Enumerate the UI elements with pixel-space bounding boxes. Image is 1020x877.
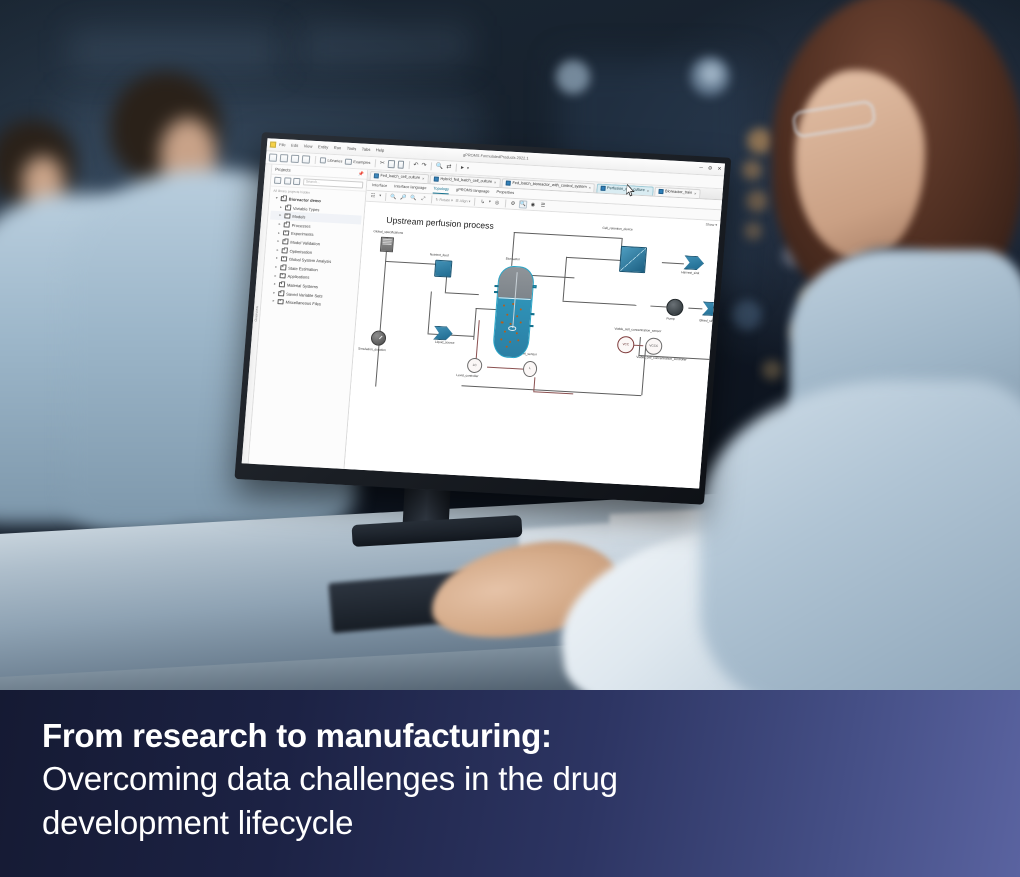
tab-label: Fed_batch_cell_culture — [380, 174, 420, 181]
chevron-right-icon[interactable]: ▸ — [280, 205, 283, 210]
connection-line — [563, 301, 637, 306]
maximize-button[interactable]: ⚙ — [708, 165, 713, 171]
vessel-port — [494, 285, 498, 287]
block-label-nutrient-feed: Nutrient_feed — [430, 253, 449, 258]
examples-button[interactable]: Examples — [345, 158, 371, 166]
vessel-port — [532, 285, 536, 288]
cell-particle — [520, 308, 522, 310]
zoom-in-icon[interactable]: 🔍 — [389, 193, 397, 201]
cell-particle — [505, 346, 507, 348]
block-nutrient-feed[interactable] — [434, 260, 452, 278]
app-body: Overview Projects 📌 — [242, 164, 723, 488]
globe-icon[interactable]: ◉ — [529, 201, 537, 209]
banner-subhead-line2: development lifecycle — [42, 803, 1020, 843]
find-replace-icon[interactable]: ⇄ — [446, 164, 452, 170]
mouse-cursor-icon — [626, 184, 636, 197]
connection-line — [530, 275, 574, 278]
connection-line — [514, 232, 622, 238]
block-label-liquid-source: Liquid_source — [435, 341, 455, 346]
tree-item-label: Variable Types — [293, 205, 320, 211]
block-bleed-sink[interactable] — [702, 301, 721, 316]
close-button[interactable]: ✕ — [717, 166, 722, 172]
topology-canvas[interactable]: Show ▾ Upstream perfusion process — [345, 202, 721, 489]
folder-icon — [285, 205, 291, 210]
connection-line — [638, 337, 640, 355]
block-viable-cell-concentration-controller[interactable]: VCCC — [645, 337, 663, 355]
wall-panel — [70, 30, 280, 72]
folder-icon — [279, 282, 285, 287]
toolbar-divider — [431, 162, 432, 170]
toolbar-divider — [408, 161, 409, 169]
align-icon: ☰ — [455, 198, 459, 203]
menu-item-file[interactable]: File — [279, 142, 286, 147]
folder-icon — [280, 265, 286, 270]
cell-particle — [519, 321, 521, 323]
cell-particle — [509, 341, 511, 343]
connection-line — [566, 257, 622, 261]
new-project-icon[interactable] — [274, 177, 282, 184]
menu-bar[interactable]: File Edit View Entity Run Tools Tabs Hel… — [279, 142, 385, 153]
toolbar-divider — [474, 198, 475, 206]
window-controls[interactable]: ─ ⚙ ✕ — [699, 165, 722, 172]
connection-line — [641, 345, 646, 395]
search-icon[interactable]: 🔍 — [436, 164, 444, 170]
model-icon — [434, 177, 439, 182]
search-input[interactable]: Search... — [302, 178, 363, 188]
chevron-right-icon[interactable]: ▸ — [279, 222, 282, 227]
tree-item-label: Models — [292, 214, 305, 220]
cell-particle — [503, 304, 505, 306]
tree-item-label: Saved Variable Sets — [286, 291, 323, 298]
vessel-port — [494, 291, 498, 293]
connection-line — [375, 237, 387, 387]
paste-icon[interactable] — [397, 161, 404, 169]
folder-icon — [279, 274, 285, 279]
show-menu-label: Show — [705, 222, 714, 226]
copy-icon[interactable] — [388, 160, 395, 168]
chevron-down-icon[interactable]: ▾ — [276, 196, 279, 201]
port-icon[interactable]: ◎ — [493, 199, 501, 207]
connect-dropdown-icon[interactable]: ▾ — [489, 201, 491, 205]
toolbar-divider — [456, 164, 457, 172]
chevron-right-icon[interactable]: ▸ — [274, 274, 277, 279]
connection-line — [650, 306, 666, 307]
signal-line — [476, 320, 480, 360]
banner-headline: From research to manufacturing: — [42, 718, 1020, 755]
block-viable-cell-concentration-sensor[interactable]: VCC — [617, 336, 635, 354]
block-harvest-sink[interactable] — [683, 255, 704, 270]
libraries-icon — [319, 157, 326, 164]
block-label-global-specifications: Global_specifications — [373, 230, 403, 236]
note-icon[interactable]: ☰ — [539, 202, 547, 210]
examples-label: Examples — [353, 160, 370, 166]
cell-particle — [516, 315, 518, 317]
menu-item-entity[interactable]: Entity — [318, 145, 329, 151]
connect-icon[interactable]: ↳ — [479, 198, 487, 206]
folder-icon — [284, 222, 290, 227]
block-level-sensor[interactable]: L — [522, 361, 537, 378]
block-level-controller[interactable]: LC — [467, 358, 483, 374]
bokeh-light — [746, 190, 768, 212]
link-icon[interactable] — [283, 177, 291, 184]
toolbar-divider — [385, 193, 386, 201]
vcc-sensor-tag: VCC — [622, 343, 629, 347]
connection-line — [688, 308, 702, 309]
folder-icon — [281, 196, 287, 201]
level-controller-tag: LC — [473, 363, 477, 367]
close-icon[interactable]: × — [694, 191, 697, 196]
desktop-monitor: File Edit View Entity Run Tools Tabs Hel… — [234, 132, 731, 505]
model-icon — [506, 181, 511, 186]
block-label-bioreactor: Bioreactor — [505, 258, 520, 263]
chevron-right-icon[interactable]: ▸ — [277, 239, 280, 244]
block-global-specifications[interactable] — [380, 237, 394, 253]
save-icon[interactable] — [291, 155, 300, 163]
chevron-right-icon[interactable]: ▸ — [277, 248, 280, 253]
chevron-right-icon[interactable]: ▸ — [273, 291, 276, 296]
vessel-port — [530, 313, 534, 315]
folder-icon — [281, 248, 287, 253]
signal-line — [487, 367, 523, 370]
bokeh-light — [732, 300, 762, 330]
menu-item-run[interactable]: Run — [333, 145, 341, 151]
select-mode-icon[interactable]: ☷ — [369, 192, 377, 200]
select-mode-dropdown-icon[interactable]: ▾ — [379, 195, 381, 199]
cell-particle — [506, 313, 508, 315]
model-icon — [374, 174, 379, 179]
close-icon[interactable]: × — [422, 176, 425, 181]
subtab-topology[interactable]: Topology — [433, 186, 449, 194]
menu-item-view[interactable]: View — [303, 144, 312, 150]
libraries-button[interactable]: Libraries — [319, 157, 342, 165]
tree-item-label: Miscellaneous Files — [285, 300, 321, 307]
cut-icon[interactable]: ✂ — [380, 161, 386, 167]
block-label-bleed-sink: Bleed_sink — [699, 319, 715, 324]
editor-area: Fed_batch_cell_culture × Hybrid_fed_batc… — [345, 170, 723, 489]
connection-line — [563, 257, 567, 301]
project-tree[interactable]: ▾ Bioreactor demo ▸ Variable Types — [261, 194, 365, 311]
show-menu[interactable]: Show ▾ — [705, 222, 717, 227]
bokeh-light — [762, 360, 782, 380]
tree-item-label: Processes — [292, 223, 311, 229]
block-cell-retention-device[interactable] — [619, 246, 647, 273]
tab-label: Hybrid_fed_batch_cell_culture — [440, 177, 492, 185]
folder-icon — [283, 231, 289, 236]
flowsheet-title: Upstream perfusion process — [386, 215, 494, 232]
examples-icon — [345, 158, 352, 165]
collapse-all-icon[interactable] — [293, 178, 301, 185]
run-dropdown-icon[interactable]: ▾ — [467, 166, 469, 170]
impeller-icon — [508, 326, 517, 331]
connection-line — [445, 292, 479, 294]
undo-icon[interactable]: ↶ — [413, 162, 419, 168]
cell-particle — [516, 332, 518, 334]
chevron-down-icon[interactable]: ▾ — [715, 223, 717, 227]
chevron-right-icon[interactable]: ▸ — [278, 231, 281, 236]
minimize-button[interactable]: ─ — [699, 165, 703, 171]
model-icon — [658, 189, 663, 194]
wall-panel — [300, 26, 470, 66]
block-label-viable-cell-concentration-sensor: Viable_cell_concentration_sensor — [614, 328, 661, 335]
tree-item-label: Applications — [287, 274, 309, 280]
cell-particle — [500, 338, 502, 340]
toolbar-divider — [431, 195, 432, 203]
run-icon[interactable]: ▸ — [461, 165, 464, 171]
rotate-button[interactable]: ↻ Rotate ▾ — [435, 197, 453, 202]
projects-title: Projects — [275, 167, 291, 173]
block-label-simulation-duration: Simulation_duration — [358, 348, 386, 353]
chevron-down-icon[interactable]: ▾ — [451, 198, 453, 203]
agitator-shaft — [512, 273, 517, 329]
cell-particle — [501, 321, 503, 323]
rotate-icon: ↻ — [435, 197, 438, 202]
zoom-out-icon[interactable]: 🔎 — [399, 194, 407, 202]
tree-item-label: Model Validation — [290, 240, 320, 247]
vccc-controller-tag: VCCC — [649, 344, 658, 348]
close-icon[interactable]: × — [647, 189, 650, 194]
tree-item-label: Experiments — [291, 231, 314, 237]
cell-particle — [504, 330, 506, 332]
tree-item-label: Material Systems — [287, 283, 318, 290]
block-simulation-duration[interactable] — [370, 330, 386, 346]
settings-icon[interactable]: ⚙ — [509, 200, 517, 208]
tree-item-label: Bioreactor demo — [289, 197, 322, 204]
chevron-right-icon[interactable]: ▸ — [272, 299, 275, 304]
tree-item-label: State Estimation — [288, 265, 318, 272]
menu-item-tabs[interactable]: Tabs — [362, 147, 371, 153]
cell-particle — [517, 339, 519, 341]
open-folder-icon[interactable] — [280, 154, 289, 162]
toolbar-divider — [375, 159, 376, 167]
close-icon[interactable]: × — [494, 180, 497, 185]
chevron-down-icon[interactable]: ▾ — [468, 199, 470, 204]
subtab-properties[interactable]: Properties — [496, 190, 514, 198]
tab-label: Bioreactor_train — [665, 190, 692, 196]
model-icon — [600, 186, 605, 191]
app-window: File Edit View Entity Run Tools Tabs Hel… — [242, 138, 725, 488]
chevron-right-icon[interactable]: ▸ — [275, 265, 278, 270]
block-label-level-controller: Level_controller — [456, 374, 478, 379]
toolbar-divider — [314, 156, 315, 164]
woman-shoulder — [700, 380, 1020, 690]
bokeh-light — [744, 222, 762, 240]
redo-icon[interactable]: ↷ — [421, 163, 427, 169]
block-label-harvest-sink: Harvest_sink — [681, 271, 699, 276]
caption-banner: From research to manufacturing: Overcomi… — [0, 690, 1020, 877]
align-button[interactable]: ☰ Align ▾ — [455, 198, 470, 203]
pin-icon[interactable]: 📌 — [358, 171, 364, 177]
block-bioreactor[interactable] — [492, 265, 535, 359]
menu-item-edit[interactable]: Edit — [291, 143, 298, 148]
block-label-pump: Pump — [666, 317, 675, 321]
chevron-right-icon[interactable]: ▸ — [274, 282, 277, 287]
bokeh-light — [747, 128, 773, 154]
cell-particle — [509, 323, 511, 325]
vessel-port — [529, 325, 533, 327]
chevron-right-icon[interactable]: ▸ — [276, 256, 279, 261]
subtab-interface[interactable]: Interface — [372, 183, 388, 191]
save-all-icon[interactable] — [302, 155, 311, 163]
bokeh-light — [556, 60, 590, 94]
inspect-icon[interactable]: 🔍 — [519, 200, 527, 208]
hero-photo: File Edit View Entity Run Tools Tabs Hel… — [0, 0, 1020, 690]
level-sensor-tag: L — [529, 367, 531, 371]
gproms-logo-icon — [270, 141, 276, 147]
libraries-label: Libraries — [327, 158, 342, 164]
block-pump[interactable] — [666, 298, 684, 316]
poster-page: File Edit View Entity Run Tools Tabs Hel… — [0, 0, 1020, 877]
block-label-cell-retention-device: Cell_retention_device — [602, 227, 632, 233]
bokeh-light — [700, 63, 722, 85]
close-icon[interactable]: × — [588, 185, 591, 190]
monitor-bezel: File Edit View Entity Run Tools Tabs Hel… — [234, 132, 731, 505]
banner-subhead-line1: Overcoming data challenges in the drug — [42, 759, 1020, 799]
folder-icon — [282, 239, 288, 244]
zoom-fit-icon[interactable]: ⤢ — [419, 195, 427, 203]
chevron-right-icon[interactable]: ▸ — [279, 214, 282, 219]
overview-strip-label: Overview — [254, 306, 259, 322]
folder-icon — [281, 256, 287, 261]
rotate-label: Rotate — [439, 198, 450, 203]
connection-line — [473, 308, 476, 340]
toolbar-divider — [504, 199, 505, 207]
connection-line — [428, 291, 432, 333]
vessel-shell — [492, 265, 535, 359]
connection-line — [461, 385, 641, 395]
new-file-icon[interactable] — [269, 153, 278, 161]
zoom-actual-icon[interactable]: 🔍 — [409, 194, 417, 202]
menu-item-tools[interactable]: Tools — [346, 146, 356, 152]
folder-icon — [277, 299, 283, 304]
align-label: Align — [459, 199, 467, 204]
connection-line — [662, 262, 684, 264]
folder-icon — [278, 291, 284, 296]
folder-icon — [284, 214, 290, 219]
tree-item-label: Optimisation — [289, 248, 312, 254]
menu-item-help[interactable]: Help — [376, 148, 385, 154]
bokeh-light — [742, 160, 762, 180]
